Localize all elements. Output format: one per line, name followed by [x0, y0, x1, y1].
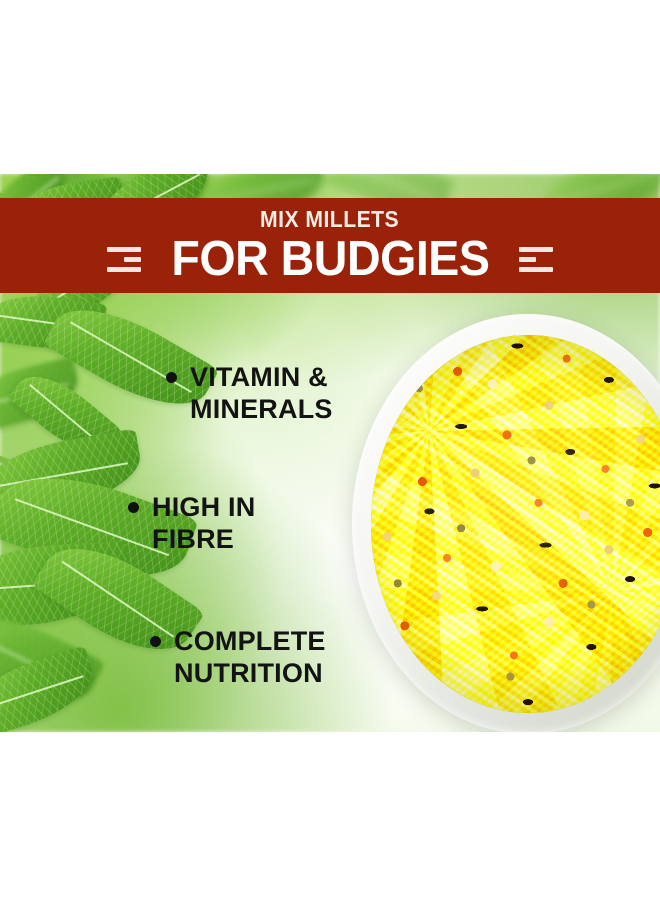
bullet-dot-icon — [166, 372, 177, 383]
three-line-mark-left-icon — [107, 247, 141, 272]
benefit-item-vitamin-minerals: VITAMIN & MINERALS — [166, 362, 333, 426]
top-white-band — [0, 0, 660, 174]
banner-kicker: MIX MILLETS — [260, 208, 399, 231]
product-banner: MIX MILLETS FOR BUDGIES VITAMIN & MINERA… — [0, 0, 660, 900]
bullet-dot-icon — [128, 502, 139, 513]
bullet-dot-icon — [150, 636, 161, 647]
banner-title: FOR BUDGIES — [171, 235, 489, 284]
headline-banner: MIX MILLETS FOR BUDGIES — [0, 198, 660, 293]
benefit-label: COMPLETE NUTRITION — [174, 626, 326, 690]
benefit-item-complete-nutrition: COMPLETE NUTRITION — [150, 626, 326, 690]
bowl-interior — [371, 335, 660, 713]
millet-seeds — [371, 335, 660, 713]
bottom-white-band — [0, 732, 660, 900]
millet-bowl — [352, 314, 660, 732]
three-line-mark-right-icon — [519, 247, 553, 272]
banner-title-row: FOR BUDGIES — [107, 235, 554, 284]
benefit-label: VITAMIN & MINERALS — [190, 362, 333, 426]
benefit-item-high-in-fibre: HIGH IN FIBRE — [128, 492, 255, 556]
benefit-label: HIGH IN FIBRE — [152, 492, 255, 556]
